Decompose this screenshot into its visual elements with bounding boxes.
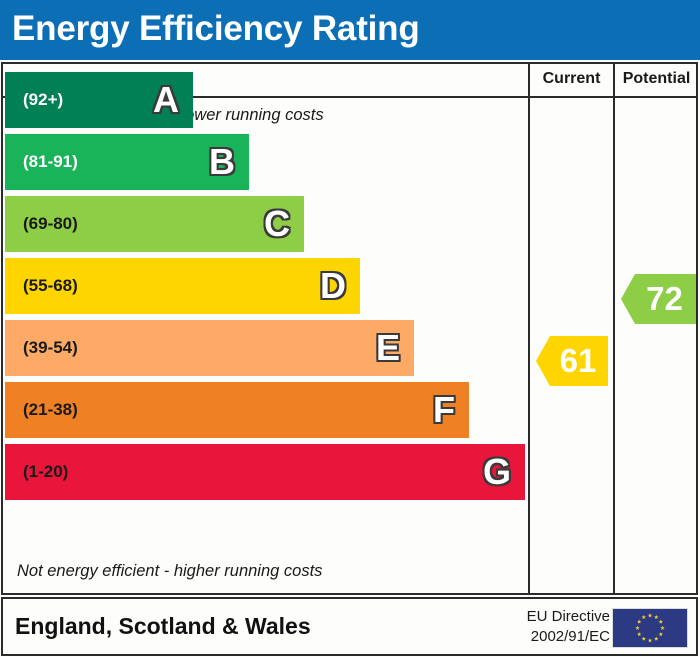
band-range-e: (39-54): [23, 338, 78, 358]
eu-flag-icon: [612, 608, 688, 648]
footer: England, Scotland & Wales EU Directive 2…: [1, 597, 698, 656]
band-range-g: (1-20): [23, 462, 68, 482]
band-letter-e: E: [376, 330, 400, 366]
eu-flag-stars-icon: [613, 609, 687, 647]
eu-directive-line-2: 2002/91/EC: [527, 627, 610, 647]
band-row-d: (55-68)D: [5, 258, 360, 314]
eu-directive-line-1: EU Directive: [527, 607, 610, 627]
rating-table: Current Potential Very energy efficient …: [1, 62, 698, 595]
band-row-a: (92+)A: [5, 72, 193, 128]
band-row-e: (39-54)E: [5, 320, 414, 376]
page-title: Energy Efficiency Rating: [12, 9, 420, 49]
band-range-d: (55-68): [23, 276, 78, 296]
band-row-g: (1-20)G: [5, 444, 525, 500]
band-letter-c: C: [264, 206, 290, 242]
band-range-b: (81-91): [23, 152, 78, 172]
band-range-f: (21-38): [23, 400, 78, 420]
band-range-a: (92+): [23, 90, 63, 110]
band-letter-f: F: [433, 392, 455, 428]
band-row-c: (69-80)C: [5, 196, 304, 252]
band-letter-d: D: [320, 268, 346, 304]
column-divider-potential: [613, 64, 615, 593]
band-letter-b: B: [209, 144, 235, 180]
footer-region-label: England, Scotland & Wales: [15, 613, 311, 640]
band-range-c: (69-80): [23, 214, 78, 234]
band-row-f: (21-38)F: [5, 382, 469, 438]
eu-directive-text: EU Directive 2002/91/EC: [527, 607, 610, 648]
note-not-energy-efficient: Not energy efficient - higher running co…: [17, 562, 322, 581]
band-letter-g: G: [483, 454, 511, 490]
band-letter-a: A: [153, 82, 179, 118]
rating-marker-current: 61: [536, 336, 608, 386]
column-header-potential: Potential: [615, 70, 698, 88]
energy-efficiency-rating-certificate: Energy Efficiency Rating Current Potenti…: [0, 0, 700, 657]
title-bar: Energy Efficiency Rating: [0, 0, 700, 60]
column-divider-current: [528, 64, 530, 593]
band-row-b: (81-91)B: [5, 134, 249, 190]
column-header-current: Current: [530, 70, 613, 88]
rating-marker-potential: 72: [621, 274, 696, 324]
